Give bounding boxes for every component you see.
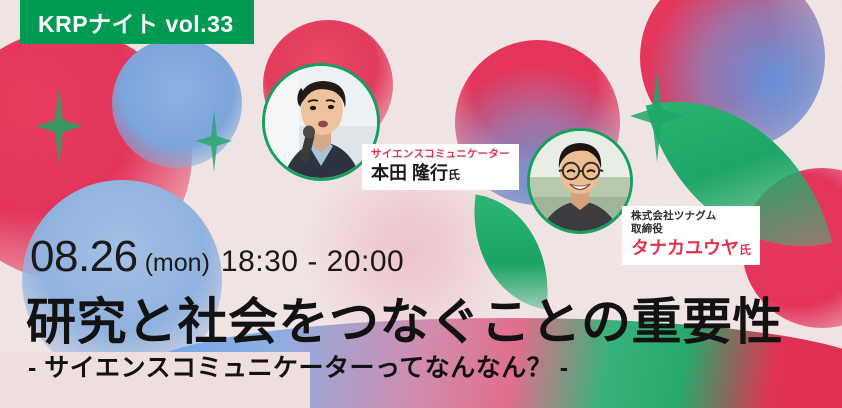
speaker-1-name-line: 本田 隆行氏 bbox=[371, 162, 510, 185]
event-banner: KRPナイト vol.33 bbox=[0, 0, 842, 408]
speaker-2-caption: 株式会社ツナグム 取締役 タナカユウヤ氏 bbox=[622, 206, 760, 265]
event-title: 研究と社会をつなぐことの重要性 bbox=[26, 282, 783, 354]
speaker-1-caption: サイエンスコミュニケーター 本田 隆行氏 bbox=[362, 144, 519, 190]
event-date: 08.26 bbox=[30, 232, 138, 282]
speaker-2-name-suffix: 氏 bbox=[739, 243, 751, 257]
speaker-2-photo bbox=[530, 131, 630, 231]
speaker-2-name-line: タナカユウヤ氏 bbox=[631, 237, 751, 260]
speaker-2-portrait bbox=[527, 128, 633, 234]
event-series-badge: KRPナイト vol.33 bbox=[20, 0, 254, 44]
blob-blue-top-left bbox=[112, 38, 242, 168]
speaker-2-role: 取締役 bbox=[631, 223, 751, 236]
speaker-1-photo bbox=[265, 66, 377, 178]
speaker-1-name: 本田 隆行 bbox=[371, 163, 448, 183]
speaker-1-name-suffix: 氏 bbox=[448, 168, 460, 182]
event-time: 18:30 - 20:00 bbox=[221, 245, 404, 279]
event-day: (mon) bbox=[145, 249, 210, 278]
event-datetime: 08.26 (mon) 18:30 - 20:00 bbox=[30, 232, 404, 282]
speaker-2-company: 株式会社ツナグム bbox=[631, 210, 751, 223]
speaker-1-role: サイエンスコミュニケーター bbox=[371, 148, 510, 161]
event-subtitle: - サイエンスコミュニケーターってなんなん？ - bbox=[28, 348, 569, 384]
speaker-2-name: タナカユウヤ bbox=[631, 238, 739, 258]
